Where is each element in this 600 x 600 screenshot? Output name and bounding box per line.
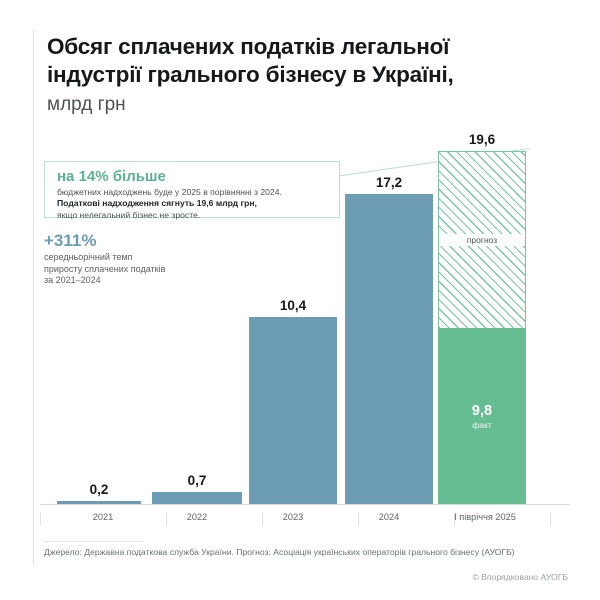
credit-note: © Впорядковано АУОГБ <box>472 572 568 582</box>
axis-tick <box>550 512 551 526</box>
bar-rect[interactable] <box>249 317 337 505</box>
page-title: Обсяг сплачених податків легальної індус… <box>47 33 567 89</box>
bar-value-label: 17,2 <box>376 175 402 190</box>
axis-tick <box>40 512 41 526</box>
bar-column-2024[interactable]: 17,2 <box>345 175 433 505</box>
x-axis-label-2023: 2023 <box>248 512 338 522</box>
bar-value-label: 0,2 <box>90 482 109 497</box>
x-axis-labels: 2021 2022 2023 2024 I півріччя 2025 <box>40 512 570 528</box>
bar-rect[interactable] <box>345 194 433 505</box>
fact-segment-label: факт <box>472 420 491 431</box>
bar-value-label: 10,4 <box>280 298 306 313</box>
infographic-page: Обсяг сплачених податків легальної індус… <box>0 0 600 600</box>
chart-header: Обсяг сплачених податків легальної індус… <box>47 33 567 117</box>
bar-column-2025[interactable]: 19,6 прогноз 9,8 факт <box>438 132 526 505</box>
source-note: Джерело: Державна податкова служба Украї… <box>44 546 564 558</box>
fact-segment-value: 9,8 <box>472 403 492 419</box>
page-subtitle: млрд грн <box>47 92 567 117</box>
bar-forecast-segment[interactable]: прогноз <box>438 151 526 328</box>
footer-divider <box>44 541 144 542</box>
bar-column-2022[interactable]: 0,7 <box>152 473 242 505</box>
bar-column-2023[interactable]: 10,4 <box>249 298 337 505</box>
x-axis-label-2021: 2021 <box>58 512 148 522</box>
axis-baseline <box>40 504 570 505</box>
page-title-line-1: Обсяг сплачених податків легальної <box>47 33 567 61</box>
bar-value-label: 0,7 <box>188 473 207 488</box>
bar-column-2021[interactable]: 0,2 <box>57 482 141 505</box>
left-accent-rule <box>33 30 34 565</box>
forecast-segment-label: прогноз <box>439 234 525 246</box>
x-axis-label-2025: I півріччя 2025 <box>438 512 532 522</box>
x-axis-label-2022: 2022 <box>152 512 242 522</box>
bar-fact-segment[interactable]: 9,8 факт <box>438 328 526 505</box>
bar-total-value-label: 19,6 <box>469 132 495 147</box>
bar-chart-plot-area: 0,2 0,7 10,4 17,2 19,6 прогноз 9,8 факт <box>40 150 570 505</box>
x-axis-label-2024: 2024 <box>344 512 434 522</box>
page-title-line-2: індустрії грального бізнесу в Україні, <box>47 61 567 89</box>
